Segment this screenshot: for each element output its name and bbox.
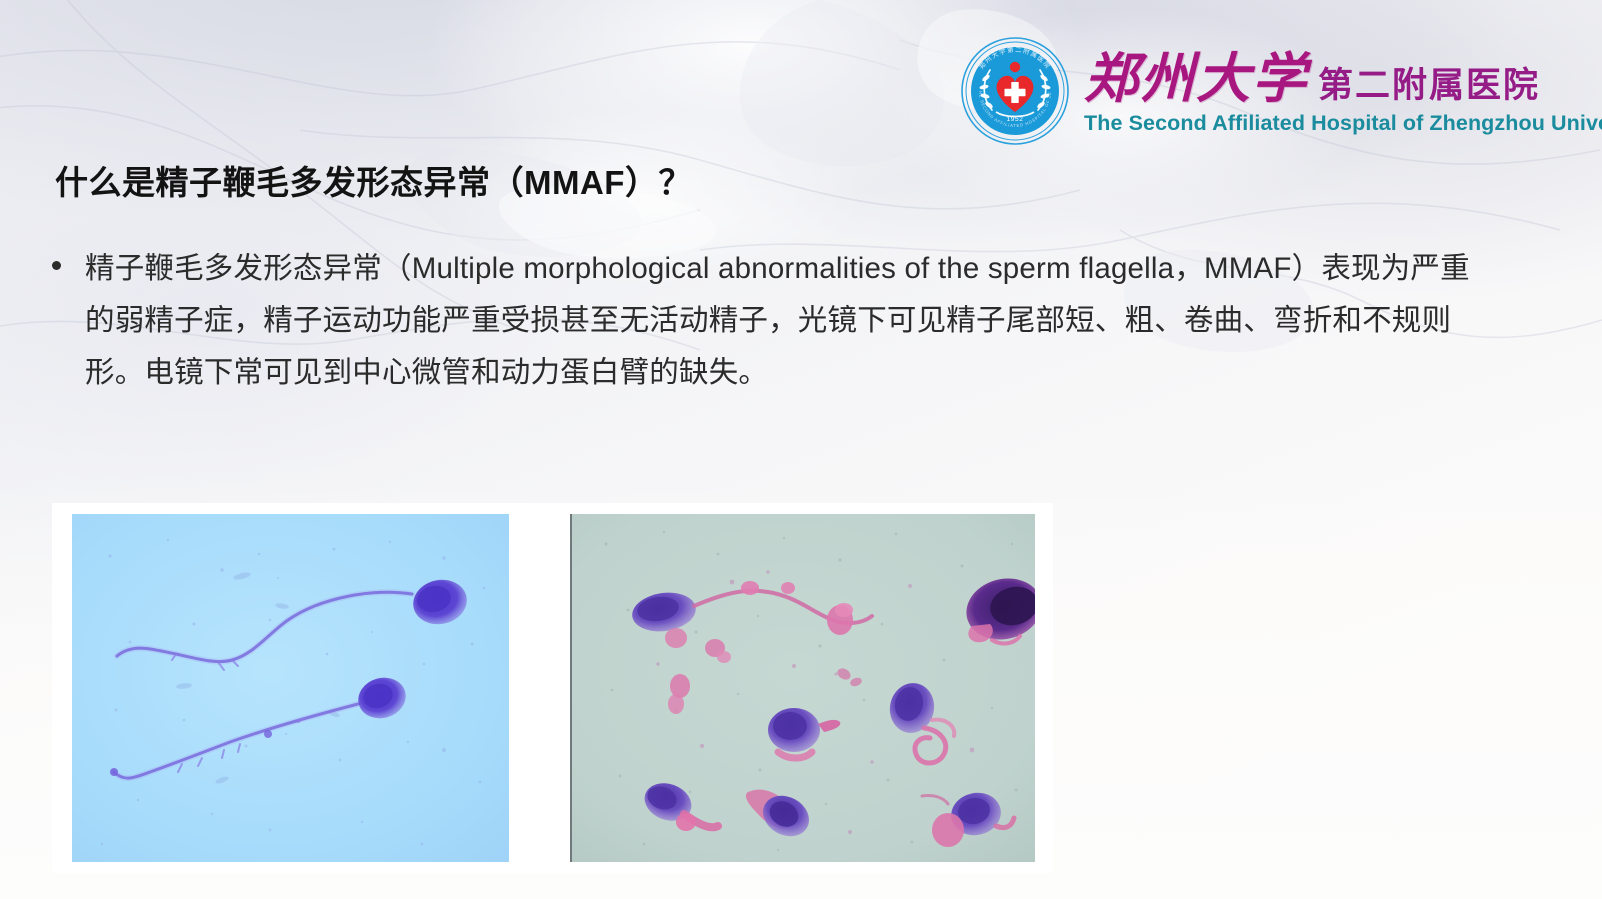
university-name: 郑州大学: [1084, 51, 1308, 105]
body-paragraph: 精子鞭毛多发形态异常（Multiple morphological abnorm…: [85, 243, 1482, 399]
emblem-year: 1952: [1006, 116, 1023, 123]
bullet-point-icon: [52, 261, 61, 270]
mmaf-sperm-micrograph: [570, 514, 1035, 862]
hospital-english-name: The Second Affiliated Hospital of Zhengz…: [1084, 111, 1602, 136]
figure-panel: [52, 503, 1053, 873]
presentation-slide: 郑州大学第二附属医院 THE SECOND AFFILIATED HOSPITA…: [0, 0, 1602, 899]
hospital-emblem-icon: 郑州大学第二附属医院 THE SECOND AFFILIATED HOSPITA…: [960, 36, 1070, 146]
hospital-name: 第二附属医院: [1318, 69, 1540, 104]
page-title: 什么是精子鞭毛多发形态异常（MMAF）？: [55, 156, 692, 204]
body-bullet-item: 精子鞭毛多发形态异常（Multiple morphological abnorm…: [52, 243, 1482, 399]
hospital-logo: 郑州大学第二附属医院 THE SECOND AFFILIATED HOSPITA…: [960, 30, 1580, 152]
normal-sperm-micrograph: [72, 514, 509, 862]
logo-wordmark: 郑州大学 第二附属医院 The Second Affiliated Hospit…: [1084, 47, 1602, 136]
